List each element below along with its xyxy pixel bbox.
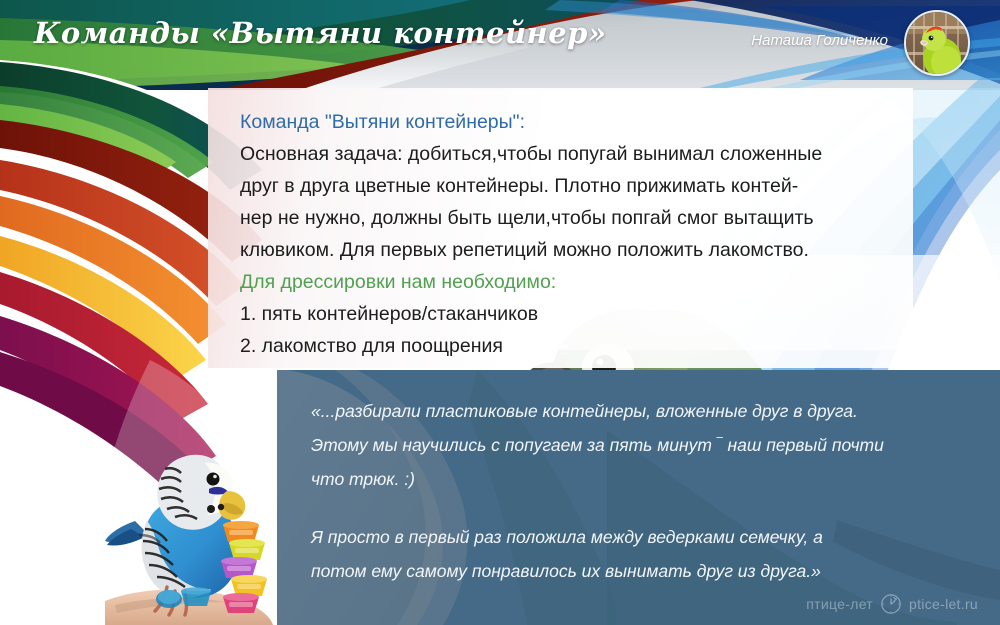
watermark-right-text: ptice-let.ru xyxy=(909,596,978,612)
content-line: Основная задача: добиться,чтобы попугай … xyxy=(240,138,890,170)
content-line: клювиком. Для первых репетиций можно пол… xyxy=(240,234,890,266)
slide-header: Команды «Вытяни контейнер» Наташа Голиче… xyxy=(0,0,1000,88)
watermark-left-text: птице-лет xyxy=(806,596,873,612)
quote-text-block: «...разбирали пластиковые контейнеры, вл… xyxy=(311,394,971,588)
quote-line: потом ему самому понравилось их вынимать… xyxy=(311,554,971,588)
parrot-avatar-photo xyxy=(906,12,968,74)
content-line: 1. пять контейнеров/стаканчиков xyxy=(240,298,890,330)
slide: Команды «Вытяни контейнер» Наташа Голиче… xyxy=(0,0,1000,625)
watermark: птице-лет ptice-let.ru xyxy=(806,593,978,615)
page-title: Команды «Вытяни контейнер» xyxy=(34,16,607,50)
quote-panel: «...разбирали пластиковые контейнеры, вл… xyxy=(277,370,1000,625)
quote-paragraph-gap xyxy=(311,496,971,520)
content-text-block: Команда "Вытяни контейнеры": Основная за… xyxy=(240,106,890,362)
content-line: 2. лакомство для поощрения xyxy=(240,330,890,362)
quote-line: Этому мы научились с попугаем за пять ми… xyxy=(311,428,971,462)
content-line: Команда "Вытяни контейнеры": xyxy=(240,106,890,138)
content-line: друг в друга цветные контейнеры. Плотно … xyxy=(240,170,890,202)
avatar xyxy=(904,10,970,76)
content-line: Для дрессировки нам необходимо: xyxy=(240,266,890,298)
clock-icon xyxy=(880,593,902,615)
quote-line: «...разбирали пластиковые контейнеры, вл… xyxy=(311,394,971,428)
content-line: нер не нужно, должны быть щели,чтобы поп… xyxy=(240,202,890,234)
quote-line: что трюк. :) xyxy=(311,462,971,496)
budgie-photo xyxy=(105,425,300,625)
author-name: Наташа Голиченко xyxy=(751,32,888,49)
content-panel: Команда "Вытяни контейнеры": Основная за… xyxy=(208,88,913,368)
quote-line: Я просто в первый раз положила между вед… xyxy=(311,520,971,554)
